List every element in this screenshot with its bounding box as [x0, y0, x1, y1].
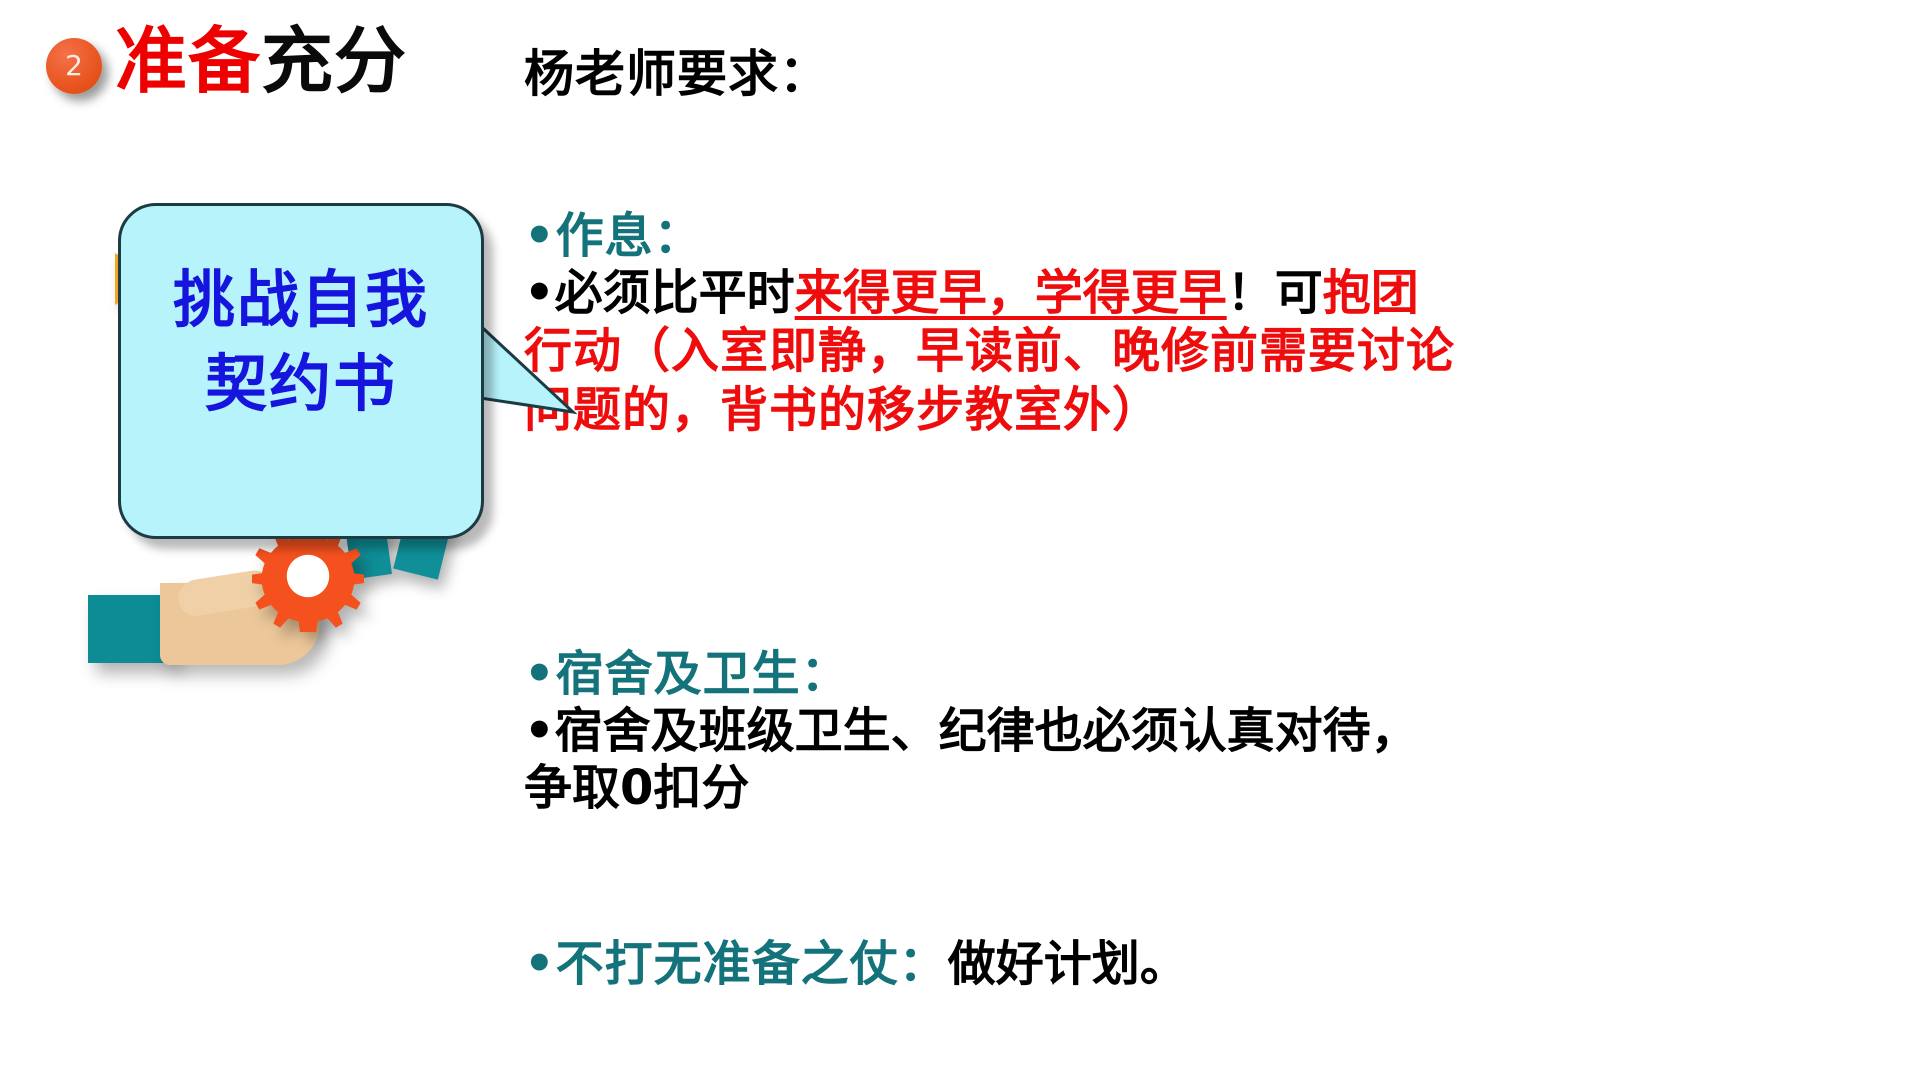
section-dorm-label: •宿舍及卫生：	[524, 646, 1904, 703]
page-title-rest: 充分	[261, 19, 407, 103]
rest-line1-suffix-black: 可	[1275, 265, 1323, 321]
page-title: 准备充分	[115, 24, 407, 100]
section-plan-label: •不打无准备之仗：	[524, 936, 948, 992]
page-title-highlight: 准备	[115, 19, 261, 103]
slide-canvas: 2 准备充分 挑战自我 契约书 杨老师要求：	[0, 0, 1919, 1080]
section-dorm-line-1: •宿舍及班级卫生、纪律也必须认真对待，	[524, 703, 1904, 761]
speech-bubble-text: 挑战自我 契约书	[121, 258, 481, 425]
speech-bubble-line-1: 挑战自我	[121, 258, 481, 342]
section-plan: •不打无准备之仗：做好计划。	[524, 936, 1904, 994]
step-number-label: 2	[65, 52, 83, 80]
section-rest-line-1: •必须比平时来得更早，学得更早！可抱团	[524, 265, 1904, 323]
section-rest: •作息： •必须比平时来得更早，学得更早！可抱团 行动（入室即静，早读前、晚修前…	[524, 208, 1904, 439]
section-rest-line-2: 行动（入室即静，早读前、晚修前需要讨论	[524, 322, 1904, 381]
section-plan-value: 做好计划。	[948, 936, 1188, 992]
requirements-heading: 杨老师要求：	[524, 46, 1904, 104]
section-rest-label: •作息：	[524, 208, 1904, 265]
rest-line1-emphasis: 来得更早，学得更早	[795, 265, 1227, 321]
step-number-badge: 2	[46, 38, 102, 94]
requirements-body: 杨老师要求： •作息： •必须比平时来得更早，学得更早！可抱团 行动（入室即静，…	[524, 46, 1904, 1046]
speech-bubble: 挑战自我 契约书	[118, 203, 484, 539]
speech-bubble-line-2: 契约书	[121, 342, 481, 426]
section-dorm-line-2: 争取0扣分	[524, 760, 1904, 818]
section-rest-line-3: 问题的，背书的移步教室外）	[524, 381, 1904, 440]
section-plan-line: •不打无准备之仗：做好计划。	[524, 936, 1904, 994]
rest-line1-mark: ！	[1227, 265, 1275, 321]
section-dorm: •宿舍及卫生： •宿舍及班级卫生、纪律也必须认真对待， 争取0扣分	[524, 646, 1904, 818]
rest-line1-suffix-red: 抱团	[1323, 265, 1419, 321]
